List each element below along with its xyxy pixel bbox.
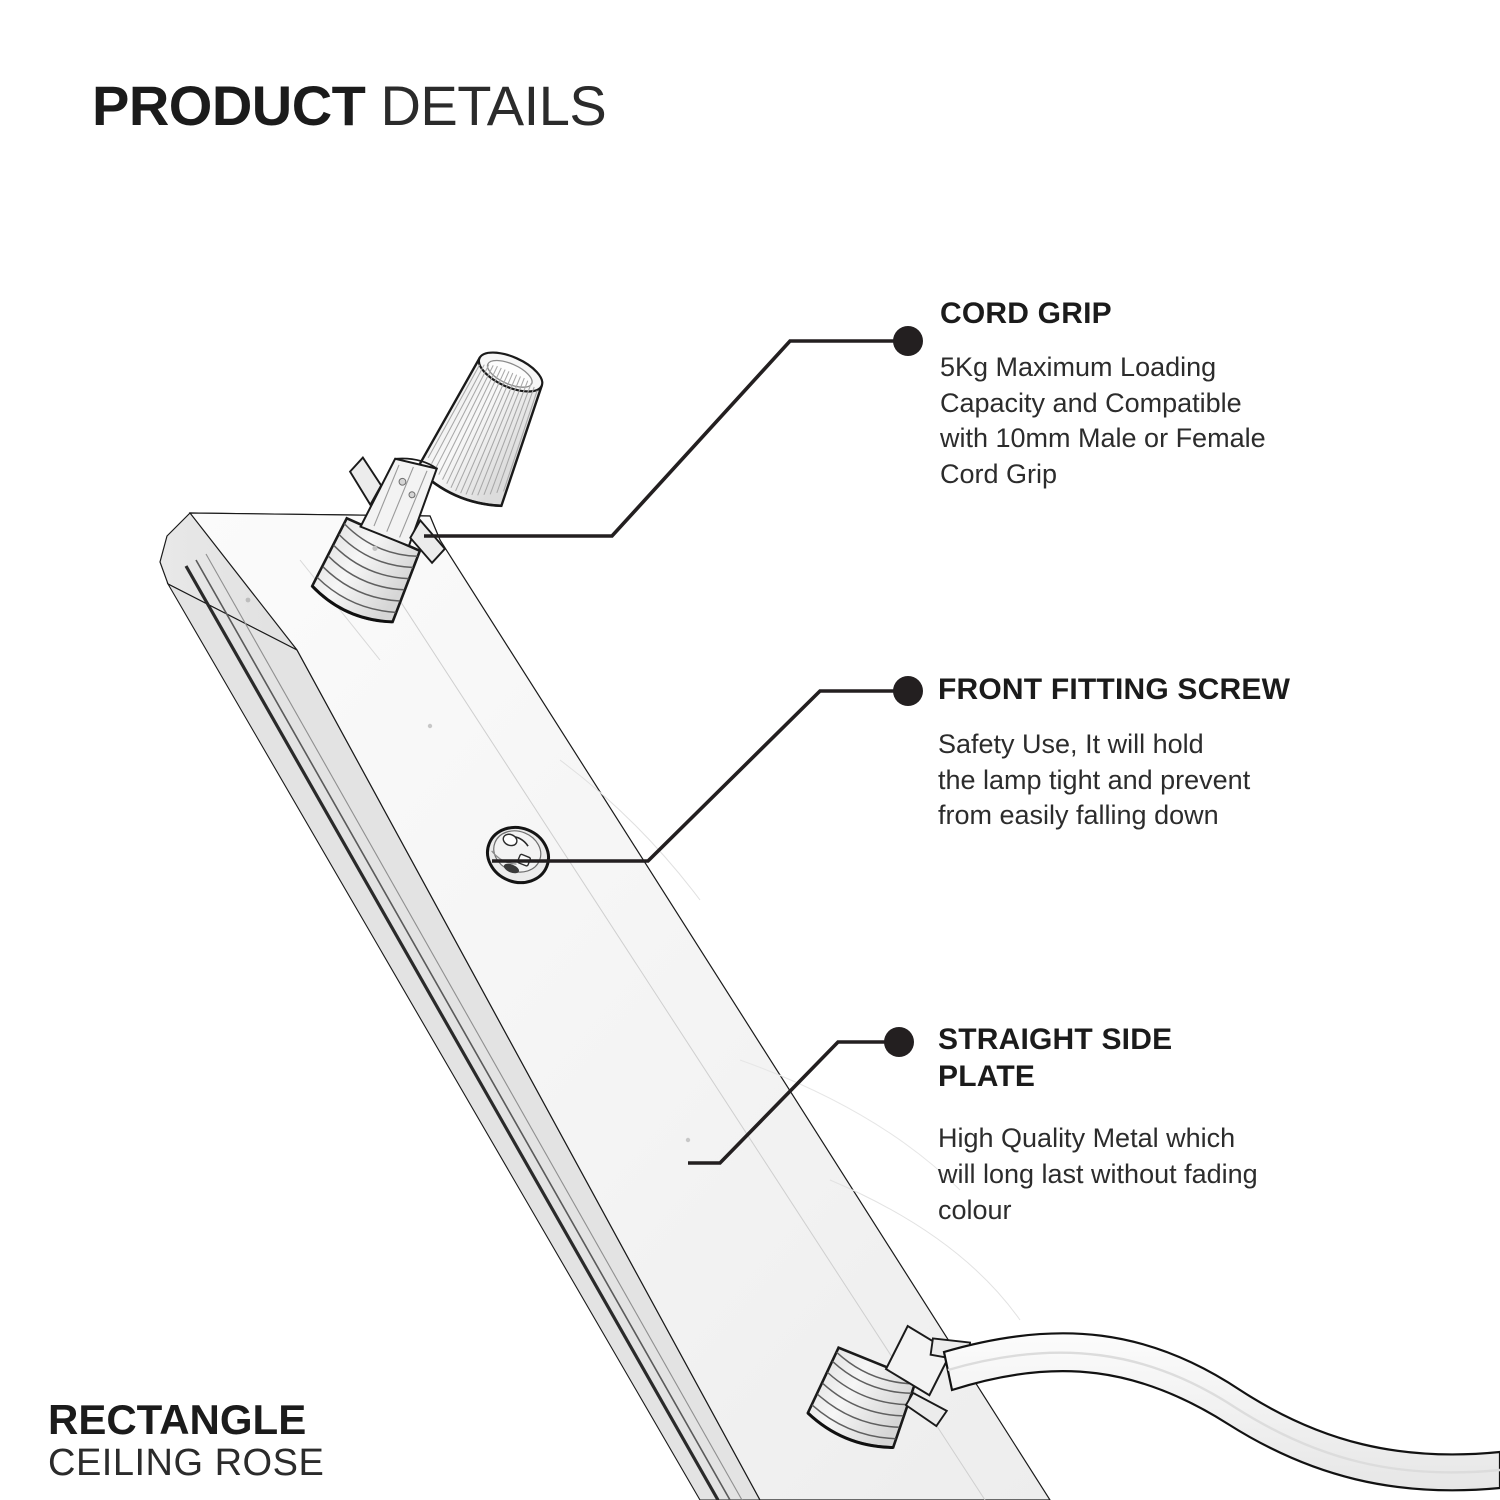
callout-straight-side-plate-body: High Quality Metal which will long last … bbox=[938, 1121, 1438, 1229]
leader-line-cord-grip bbox=[424, 341, 900, 536]
leader-dot-front-screw bbox=[893, 676, 923, 706]
callout-cord-grip-title: CORD GRIP bbox=[940, 296, 1440, 333]
callout-cord-grip: CORD GRIP 5Kg Maximum Loading Capacity a… bbox=[940, 296, 1440, 493]
leader-dot-cord-grip bbox=[893, 326, 923, 356]
callout-front-fitting-screw: FRONT FITTING SCREW Safety Use, It will … bbox=[938, 672, 1443, 834]
callout-cord-grip-body: 5Kg Maximum Loading Capacity and Compati… bbox=[940, 350, 1440, 494]
cord-grip-cap-artwork bbox=[414, 340, 559, 514]
front-fitting-screw-artwork bbox=[479, 818, 557, 891]
page-title-light: DETAILS bbox=[380, 74, 606, 137]
leader-dot-side-plate bbox=[884, 1027, 914, 1057]
cord-grip-base-artwork bbox=[298, 436, 474, 637]
callout-front-fitting-screw-body: Safety Use, It will hold the lamp tight … bbox=[938, 727, 1443, 835]
callout-straight-side-plate: STRAIGHT SIDE PLATE High Quality Metal w… bbox=[938, 1022, 1438, 1229]
page-title: PRODUCT DETAILS bbox=[92, 78, 606, 134]
product-name: RECTANGLE CEILING ROSE bbox=[48, 1398, 324, 1483]
side-plate-artwork bbox=[160, 513, 1050, 1500]
lower-cord-outlet-artwork bbox=[804, 1296, 1500, 1490]
page-title-strong: PRODUCT bbox=[92, 74, 365, 137]
leader-line-front-screw bbox=[492, 691, 900, 861]
callout-straight-side-plate-title: STRAIGHT SIDE PLATE bbox=[938, 1022, 1438, 1095]
callout-front-fitting-screw-title: FRONT FITTING SCREW bbox=[938, 672, 1443, 709]
product-name-strong: RECTANGLE bbox=[48, 1398, 324, 1443]
leader-line-side-plate bbox=[688, 1042, 892, 1163]
product-name-light: CEILING ROSE bbox=[48, 1443, 324, 1483]
